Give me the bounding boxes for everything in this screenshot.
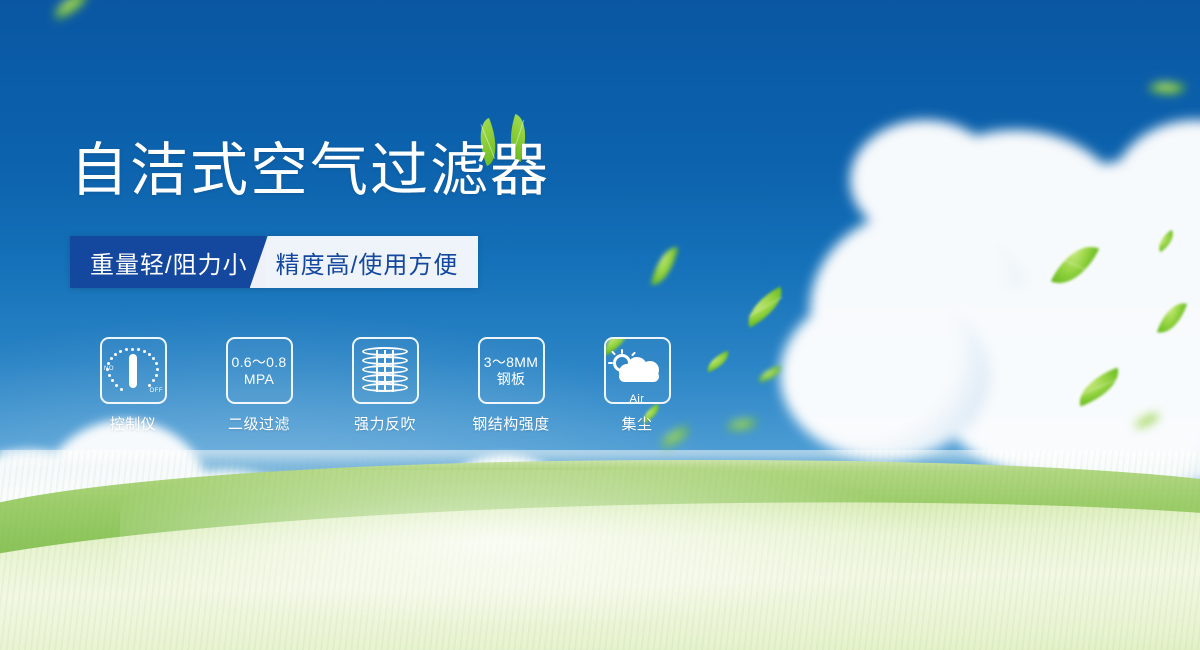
pressure-icon-text: 0.6〜0.8 MPA	[231, 354, 286, 386]
gauge-glyph: NO OFF	[105, 346, 161, 396]
feature-label: 钢结构强度	[472, 413, 550, 434]
pressure-unit: MPA	[231, 371, 286, 387]
subtitle-right-chip: 精度高/使用方便	[250, 236, 479, 288]
feature-label: 控制仪	[110, 413, 157, 434]
steel-material: 钢板	[484, 371, 538, 387]
page-title: 自洁式空气过滤器	[70, 142, 550, 200]
coil-icon	[352, 337, 419, 404]
feature-label: 集尘	[621, 413, 652, 434]
grass-highlight	[120, 470, 960, 630]
feature-item-backwash[interactable]: 强力反吹	[322, 337, 448, 434]
feature-item-steel[interactable]: 3〜8MM 钢板 钢结构强度	[448, 337, 574, 434]
steel-thickness: 3〜8MM	[484, 354, 538, 370]
pressure-value: 0.6〜0.8	[231, 354, 286, 370]
steel-icon: 3〜8MM 钢板	[478, 337, 545, 404]
subtitle-left-chip: 重量轻/阻力小	[70, 236, 266, 288]
feature-label: 二级过滤	[228, 413, 290, 434]
air-caption: Air	[611, 393, 663, 405]
steel-icon-text: 3〜8MM 钢板	[484, 354, 538, 386]
gauge-off-label: OFF	[150, 388, 164, 394]
feature-item-dust[interactable]: Air 集尘	[574, 337, 700, 434]
field-edge-highlight	[0, 450, 1200, 468]
gauge-no-label: NO	[104, 366, 114, 372]
pressure-icon: 0.6〜0.8 MPA	[226, 337, 293, 404]
product-hero-banner: 自洁式空气过滤器 重量轻/阻力小 精度高/使用方便	[0, 0, 1200, 650]
feature-label: 强力反吹	[354, 413, 416, 434]
feature-list: NO OFF 控制仪 0.6〜0.8 MPA 二级过滤	[70, 337, 700, 434]
grass-field	[0, 450, 1200, 650]
subtitle-bar: 重量轻/阻力小 精度高/使用方便	[70, 236, 478, 288]
coil-glyph	[362, 347, 408, 395]
gauge-icon: NO OFF	[100, 337, 167, 404]
feature-item-pressure[interactable]: 0.6〜0.8 MPA 二级过滤	[196, 337, 322, 434]
cloud-air-icon: Air	[604, 337, 671, 404]
cloud-glyph: Air	[611, 351, 663, 391]
feature-item-control[interactable]: NO OFF 控制仪	[70, 337, 196, 434]
